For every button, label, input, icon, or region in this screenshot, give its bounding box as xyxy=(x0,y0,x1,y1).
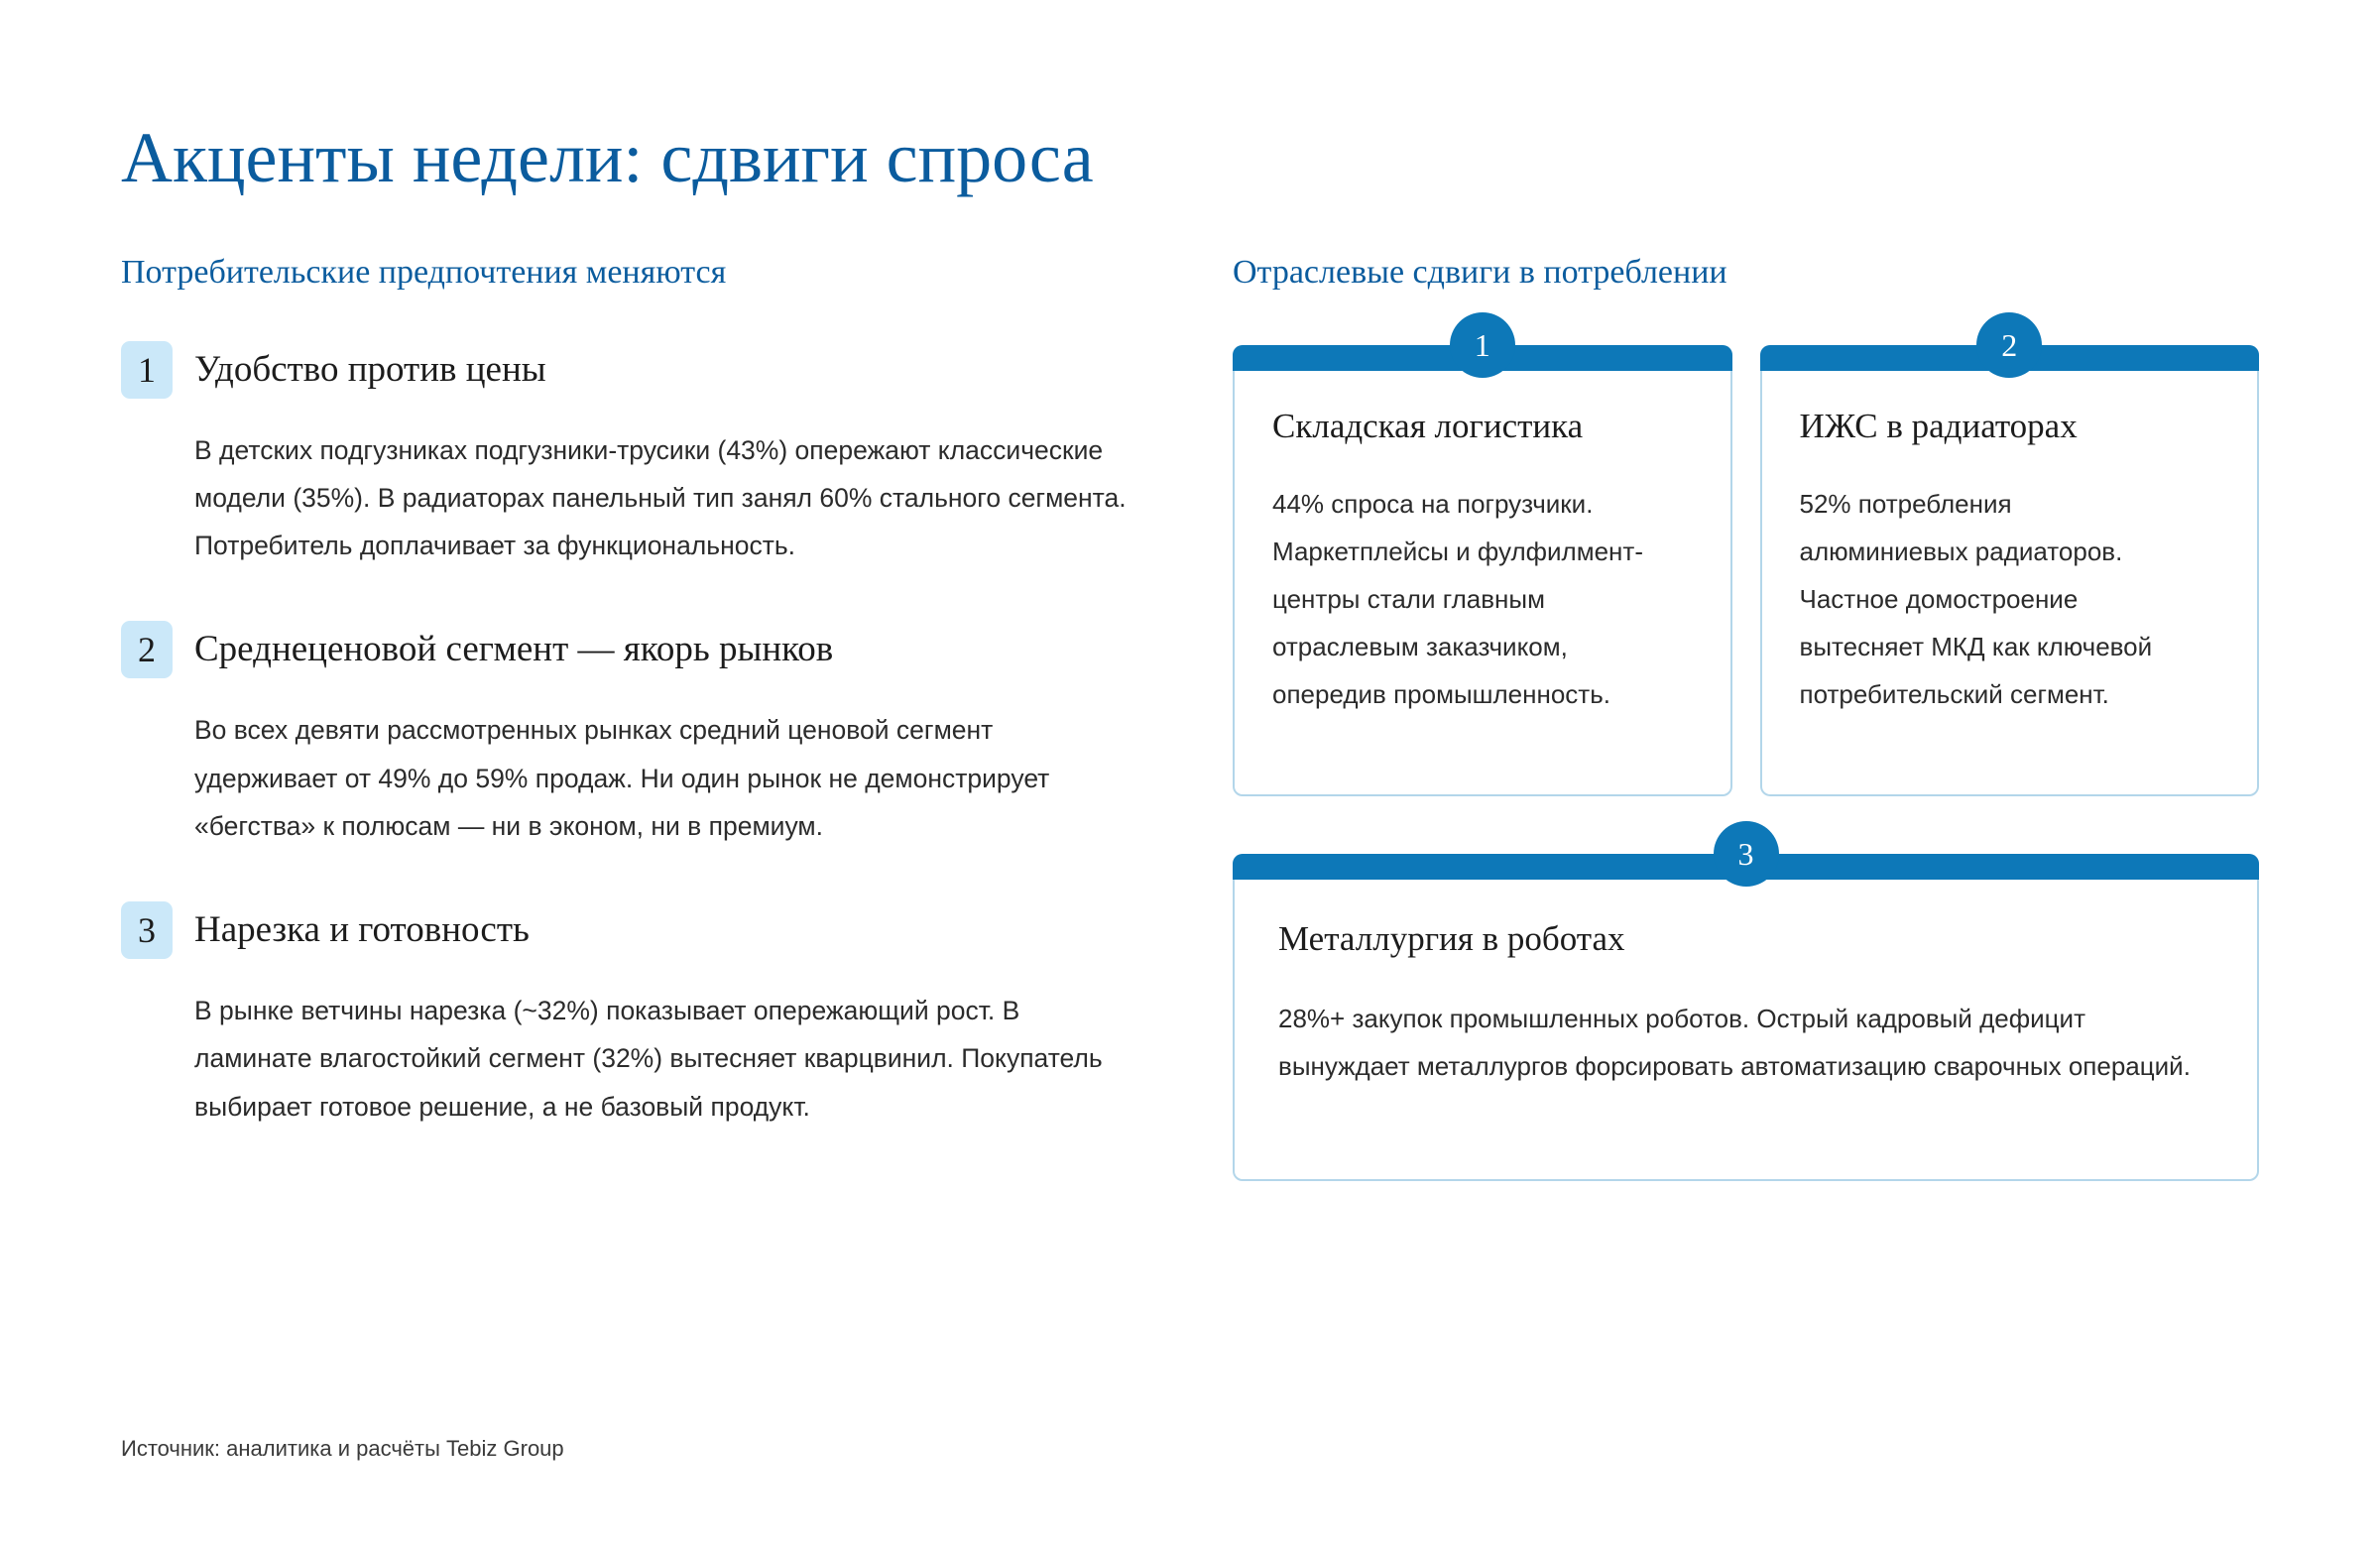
right-section-heading: Отраслевые сдвиги в потреблении xyxy=(1233,253,2259,294)
item-number-badge: 1 xyxy=(121,341,173,399)
card-row-top: 1 Складская логистика 44% спроса на погр… xyxy=(1233,345,2259,796)
card-title: ИЖС в радиаторах xyxy=(1800,405,2220,448)
item-title: Удобство против цены xyxy=(194,348,546,392)
card-title: Складская логистика xyxy=(1272,405,1693,448)
list-item-header: 1 Удобство против цены xyxy=(121,341,1172,399)
card-number-badge: 3 xyxy=(1714,821,1779,887)
card-number-badge: 1 xyxy=(1450,312,1515,378)
left-column: Потребительские предпочтения меняются 1 … xyxy=(121,253,1172,1156)
item-number-badge: 3 xyxy=(121,901,173,959)
item-body: Во всех девяти рассмотренных рынках сред… xyxy=(194,706,1127,850)
item-title: Среднеценовой сегмент — якорь рынков xyxy=(194,628,833,671)
list-item-header: 3 Нарезка и готовность xyxy=(121,901,1172,959)
card-grid: 1 Складская логистика 44% спроса на погр… xyxy=(1233,345,2259,1181)
left-section-heading: Потребительские предпочтения меняются xyxy=(121,253,1172,294)
card-body: 52% потребления алюминиевых радиаторов. … xyxy=(1800,480,2187,718)
card: 3 Металлургия в роботах 28%+ закупок про… xyxy=(1233,854,2259,1181)
card: 2 ИЖС в радиаторах 52% потребления алюми… xyxy=(1760,345,2260,796)
card-title: Металлургия в роботах xyxy=(1278,917,2213,961)
card: 1 Складская логистика 44% спроса на погр… xyxy=(1233,345,1732,796)
card-number-badge: 2 xyxy=(1976,312,2042,378)
infographic-page: Акценты недели: сдвиги спроса Потребител… xyxy=(0,0,2380,1551)
list-item: 3 Нарезка и готовность В рынке ветчины н… xyxy=(121,901,1172,1131)
right-column: Отраслевые сдвиги в потреблении 1 Складс… xyxy=(1233,253,2259,1181)
source-note: Источник: аналитика и расчёты Tebiz Grou… xyxy=(121,1436,564,1462)
page-title: Акценты недели: сдвиги спроса xyxy=(121,119,1094,197)
card-body: 44% спроса на погрузчики. Маркетплейсы и… xyxy=(1272,480,1659,718)
list-item-header: 2 Среднеценовой сегмент — якорь рынков xyxy=(121,621,1172,678)
item-body: В рынке ветчины нарезка (~32%) показывае… xyxy=(194,987,1127,1131)
item-body: В детских подгузниках подгузники-трусики… xyxy=(194,426,1127,570)
list-item: 1 Удобство против цены В детских подгузн… xyxy=(121,341,1172,570)
item-number-badge: 2 xyxy=(121,621,173,678)
item-title: Нарезка и готовность xyxy=(194,908,530,952)
list-item: 2 Среднеценовой сегмент — якорь рынков В… xyxy=(121,621,1172,850)
card-body: 28%+ закупок промышленных роботов. Остры… xyxy=(1278,995,2213,1090)
